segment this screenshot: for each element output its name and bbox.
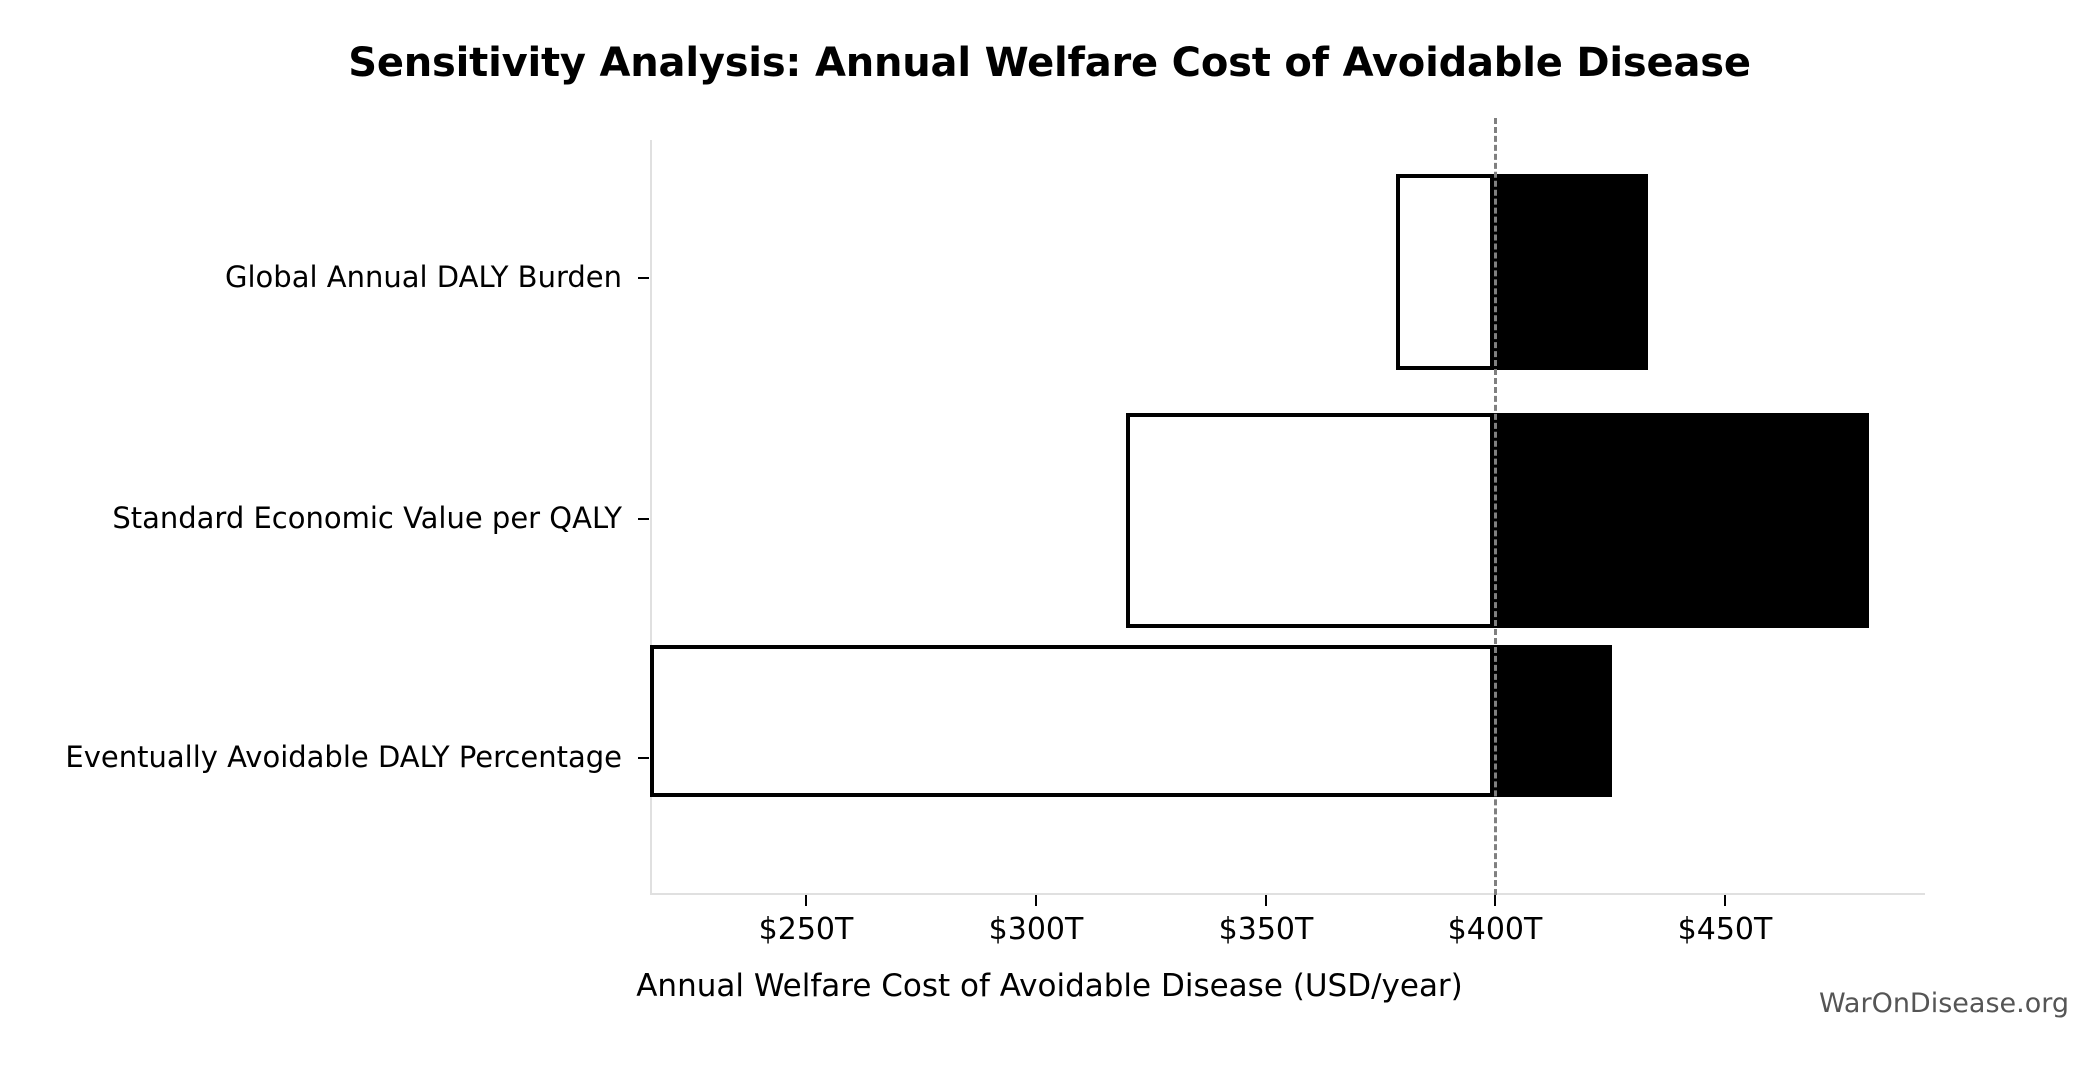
y-axis-label-standard-economic-value-per-qaly: Standard Economic Value per QALY [0,501,622,535]
baseline-reference-line [1494,118,1497,895]
bar-low-eventually-avoidable-daly-percentage [650,645,1494,797]
bar-row-standard-economic-value-per-qaly [650,413,1925,628]
x-tick-mark-350t [1265,895,1267,906]
chart-title: Sensitivity Analysis: Annual Welfare Cos… [0,40,2099,86]
x-tick-mark-400t [1494,895,1496,906]
bar-high-global-annual-daly-burden [1494,174,1648,370]
x-tick-mark-250t [805,895,807,906]
plot-area: $250T $300T $350T $400T $450T [650,140,1925,895]
x-tick-label-450t: $450T [1678,912,1773,947]
y-tick-mark-2 [638,757,649,759]
y-axis-label-global-annual-daly-burden: Global Annual DALY Burden [0,260,622,294]
bar-row-global-annual-daly-burden [650,174,1925,370]
x-tick-label-400t: $400T [1448,912,1543,947]
bar-low-standard-economic-value-per-qaly [1126,413,1494,628]
x-tick-mark-300t [1035,895,1037,906]
x-tick-mark-450t [1724,895,1726,906]
chart-figure: Sensitivity Analysis: Annual Welfare Cos… [0,0,2099,1075]
x-axis-spine [650,893,1925,895]
bar-high-eventually-avoidable-daly-percentage [1494,645,1612,797]
bar-low-global-annual-daly-burden [1396,174,1494,370]
x-tick-label-250t: $250T [759,912,854,947]
bar-row-eventually-avoidable-daly-percentage [650,645,1925,797]
y-tick-mark-1 [638,518,649,520]
y-axis-label-eventually-avoidable-daly-percentage: Eventually Avoidable DALY Percentage [0,740,622,774]
x-tick-label-300t: $300T [989,912,1084,947]
bar-high-standard-economic-value-per-qaly [1494,413,1869,628]
x-tick-label-350t: $350T [1219,912,1314,947]
y-tick-mark-0 [638,277,649,279]
x-axis-title: Annual Welfare Cost of Avoidable Disease… [0,968,2099,1004]
watermark: WarOnDisease.org [1819,988,2069,1019]
